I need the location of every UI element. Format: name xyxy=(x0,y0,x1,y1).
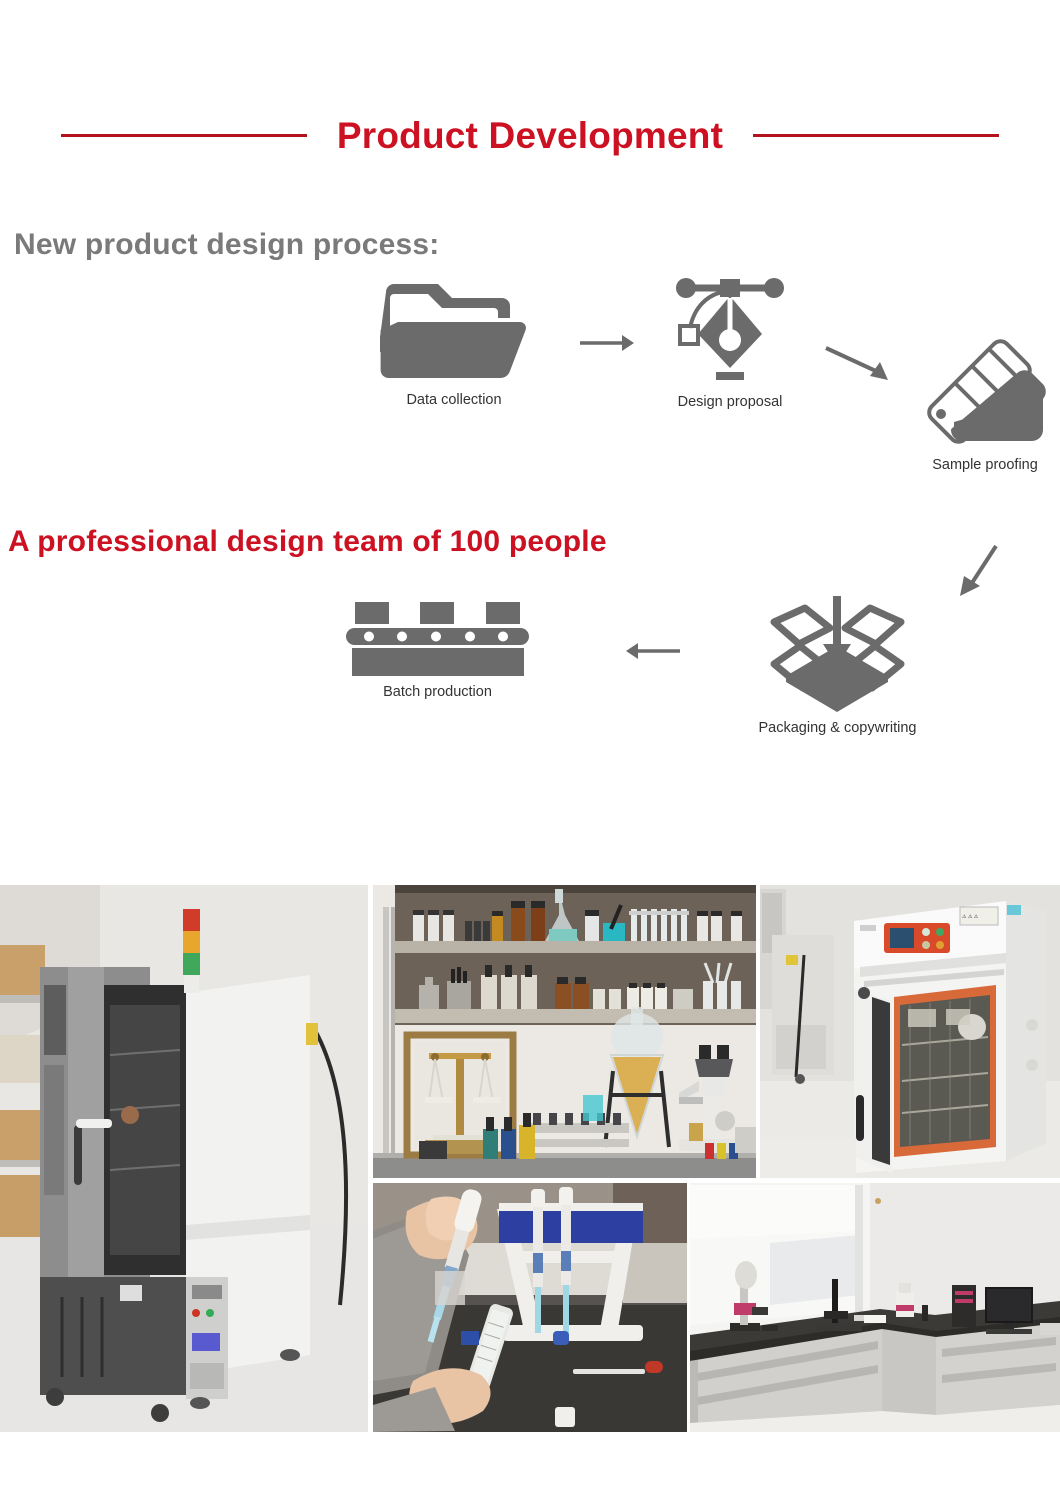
folder-icon xyxy=(380,278,528,384)
header-rule-right xyxy=(753,134,999,137)
flow-step-label: Sample proofing xyxy=(910,457,1060,474)
flow-step-label: Data collection xyxy=(380,392,528,409)
open-box-icon xyxy=(730,586,945,712)
flow-step-data-collection: Data collection xyxy=(380,278,528,409)
photo-oven: ⚠ ⚠ ⚠ xyxy=(760,885,1060,1178)
flow-step-label: Batch production xyxy=(340,684,535,701)
arrow-left-icon xyxy=(622,640,682,667)
process-heading: New product design process: xyxy=(14,228,439,262)
svg-text:⚠ ⚠ ⚠: ⚠ ⚠ ⚠ xyxy=(962,914,979,920)
flow-step-label: Design proposal xyxy=(650,394,810,411)
conveyor-belt-icon xyxy=(340,600,535,676)
arrow-right-icon xyxy=(578,332,636,359)
pen-tool-icon xyxy=(650,272,810,386)
page-title: Product Development xyxy=(337,117,723,154)
photo-labshelf xyxy=(373,885,756,1178)
photo-gallery: ⚠ ⚠ ⚠ xyxy=(0,885,1060,1433)
header-rule-left xyxy=(61,134,307,137)
photo-pipette xyxy=(373,1183,687,1432)
color-swatch-fan-icon xyxy=(910,334,1060,449)
page-header: Product Development xyxy=(0,104,1060,166)
flow-step-sample-proofing: Sample proofing xyxy=(910,334,1060,474)
photo-labbench xyxy=(690,1183,1060,1432)
team-headline: A professional design team of 100 people xyxy=(8,525,607,559)
flow-step-batch-production: Batch production xyxy=(340,600,535,701)
flow-step-design-proposal: Design proposal xyxy=(650,272,810,411)
arrow-down-right-icon xyxy=(822,340,892,393)
arrow-down-left-icon xyxy=(952,540,1008,607)
flow-step-label: Packaging & copywriting xyxy=(730,720,945,737)
flow-step-packaging-copywriting: Packaging & copywriting xyxy=(730,586,945,737)
photo-chamber xyxy=(0,885,368,1432)
